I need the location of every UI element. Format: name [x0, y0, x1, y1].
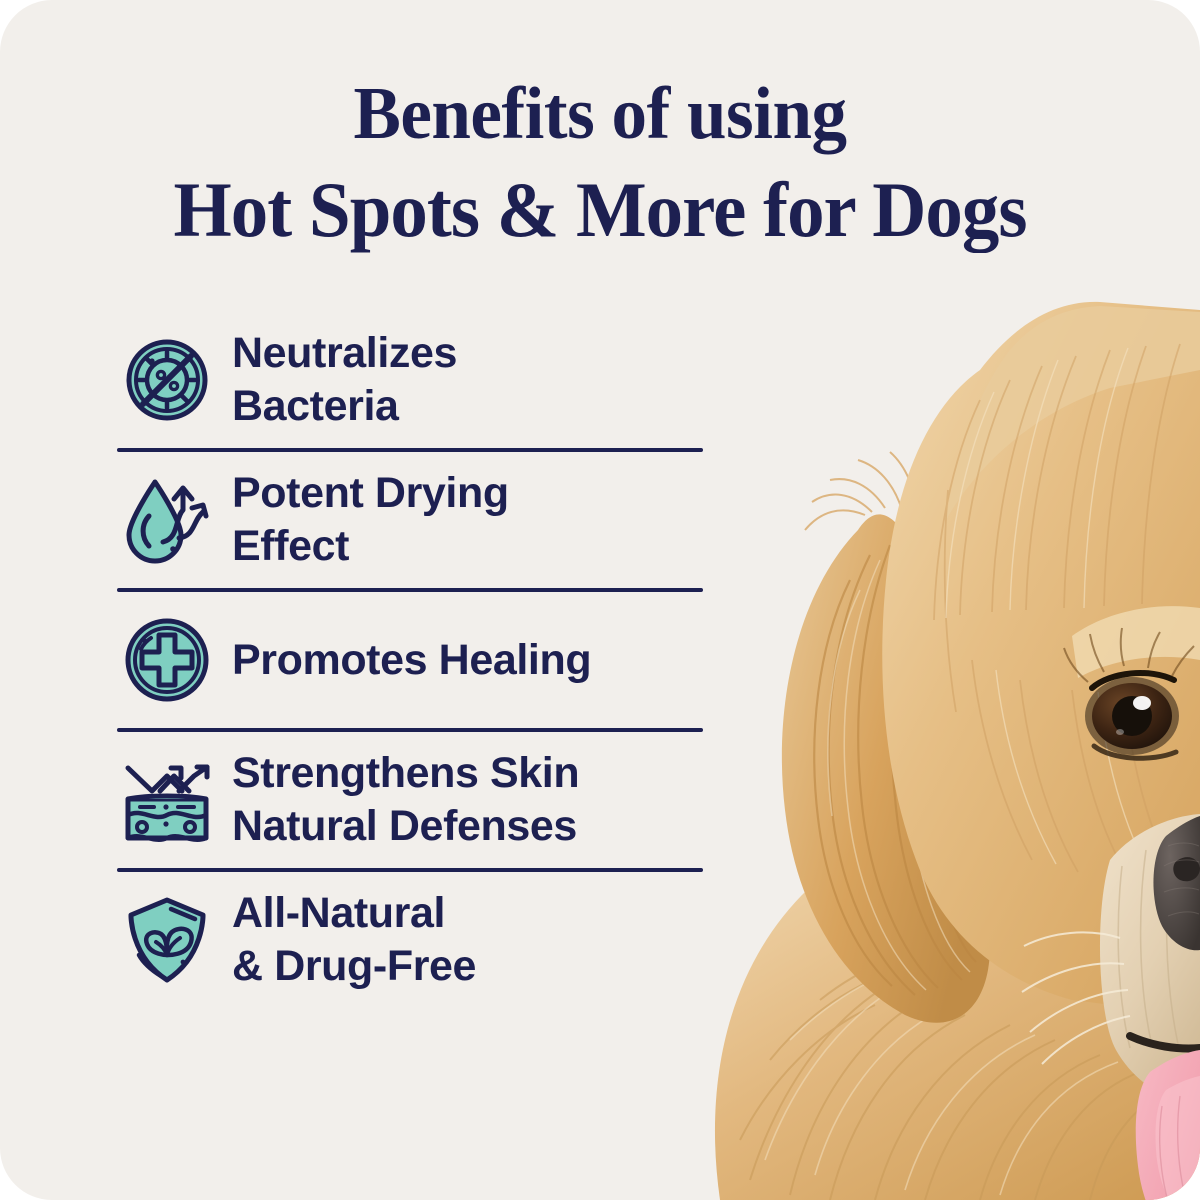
germ-blocked-icon	[117, 330, 217, 430]
benefits-list: Neutralizes Bacteria Potent Drying Effec…	[117, 312, 705, 1008]
benefit-item-potent-drying-effect: Potent Drying Effect	[117, 452, 705, 588]
golden-retriever-dog-photo	[680, 160, 1200, 1200]
medical-cross-circle-icon	[117, 610, 217, 710]
benefit-item-promotes-healing: Promotes Healing	[117, 592, 705, 728]
benefit-label: Strengthens Skin Natural Defenses	[232, 747, 579, 853]
benefit-label: Potent Drying Effect	[232, 467, 509, 573]
benefit-item-neutralizes-bacteria: Neutralizes Bacteria	[117, 312, 705, 448]
skin-barrier-shield-icon	[117, 750, 217, 850]
benefit-label: All-Natural & Drug-Free	[232, 887, 476, 993]
benefit-item-all-natural-drug-free: All-Natural & Drug-Free	[117, 872, 705, 1008]
shield-leaf-icon	[117, 890, 217, 990]
benefits-infographic-card: Benefits of using Hot Spots & More for D…	[0, 0, 1200, 1200]
page-title-line-2: Hot Spots & More for Dogs	[24, 161, 1176, 259]
benefit-label: Promotes Healing	[232, 634, 591, 687]
page-title-line-1: Benefits of using	[24, 68, 1176, 161]
benefit-label: Neutralizes Bacteria	[232, 327, 457, 433]
page-title: Benefits of using Hot Spots & More for D…	[0, 68, 1200, 258]
benefit-item-strengthens-skin: Strengthens Skin Natural Defenses	[117, 732, 705, 868]
water-drop-evaporation-icon	[117, 470, 217, 570]
